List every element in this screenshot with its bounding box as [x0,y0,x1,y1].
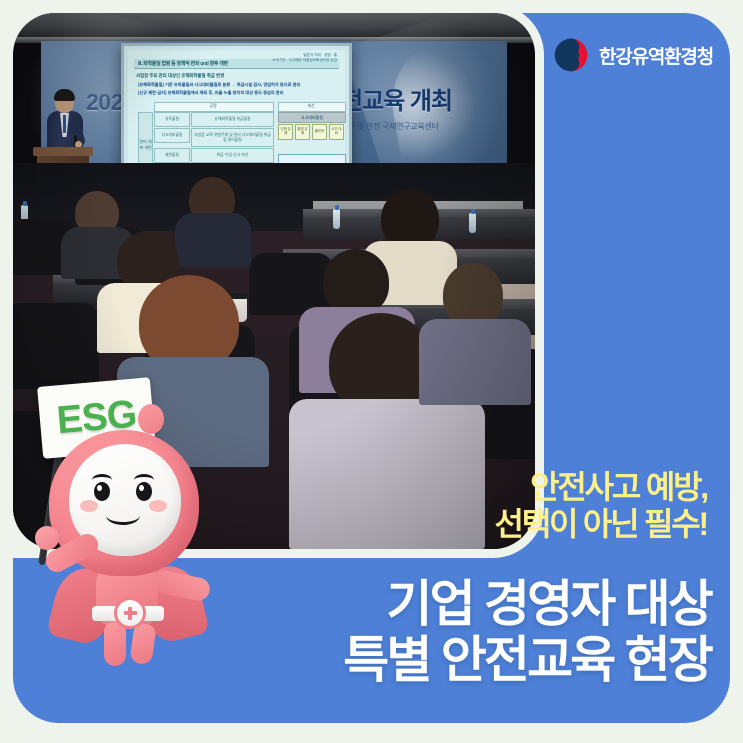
slide-gray-header-text: 사고대비물질 [279,113,345,122]
slide-row-text: 유해화학물질 취급물질 [191,112,274,127]
slide-corner-note-2: 소속기관 : 사고예방·대응정보화센터장 담당 [272,58,337,63]
slide-row-tag: 사고대비물질 [154,128,190,143]
slide-col-left-label: 공정 [154,103,272,109]
slide-cell: 인체 유해 [278,124,293,140]
main-title: 기업 경영자 대상 특별 안전교육 현장 [343,576,711,688]
mascot-belt-buckle [117,600,143,626]
slide-bullet-1: (유해화학물질) 기존 유독물질과 사고대비물질로 분류 → 취급시설 검사, … [138,82,300,88]
slide-bullet-title: 사업장 주요 관리 대상인 유해화학물질 취급 변경 [136,73,224,79]
mascot-smile [106,506,140,525]
presenter-tie [63,115,66,133]
agency-name: 한강유역환경청 [599,42,713,69]
chair [13,303,99,389]
slide-row-tag: 유독물질 [154,112,190,127]
slide-row-text: 사업장·교육·위험주체 및 관리 사고대비물질 취급 등 관리물질 [191,128,274,147]
mascot-eye-right [136,482,152,501]
slide-header-title: Ⅱ. 화학물질 법령 등 정책적 변화 und 향후 개편 [138,60,228,67]
slide-row-text: 취급·수입·신고·허가 [191,148,274,163]
mascot-leg-left [104,622,126,666]
mascot-cheek-left [80,500,98,512]
agency-logo-block: 한강유역환경청 [554,38,713,72]
sub-copy: 안전사고 예방, 선택이 아닌 필수! [494,469,707,544]
slide-cell-group: 인체 유해 환경 유해 물리적 사고 대비 [278,124,344,140]
promo-card: 2025년 전교육 개최 기구 및 안전 국제연구교육센터 환경 한강유역환경청… [0,0,743,743]
mascot-leg-right [129,623,156,666]
taegeuk-emblem-icon [554,38,588,72]
backdrop-headline: 전교육 개최 [341,81,452,116]
presenter-hair [54,89,75,101]
esg-superhero-mascot: ESG [18,378,233,678]
water-bottle [469,213,476,233]
slide-row-tag: 제한물질 [154,148,190,163]
slide-bullet-2: (신규 제한·금지) 유해화학물질에서 제외 후, 유출·누출 방지의 대상 용… [138,90,284,96]
slide-cell: 사고 대비 [329,124,344,140]
water-bottle [333,209,340,229]
chair [249,253,333,315]
slide-cell: 물리적 [312,124,327,140]
slide-gray-header: 사고대비물질 [278,112,346,123]
slide-col-right-label: 개선 [278,103,344,109]
mascot-hand-left [35,526,59,550]
slide-side-label-text: 관리·체계·개편 [139,139,152,150]
slide-corner-note: 발표자 직위 · 성명 : 홍 소속기관 : 사고예방·대응정보화센터장 담당 [272,53,337,63]
mascot-eye-left [94,482,110,501]
mascot-cheek-right [149,500,167,512]
backdrop-sub: 기구 및 안전 국제연구교육센터 [341,121,439,132]
mascot-ear [138,404,164,434]
slide-cell: 환경 유해 [295,124,310,140]
